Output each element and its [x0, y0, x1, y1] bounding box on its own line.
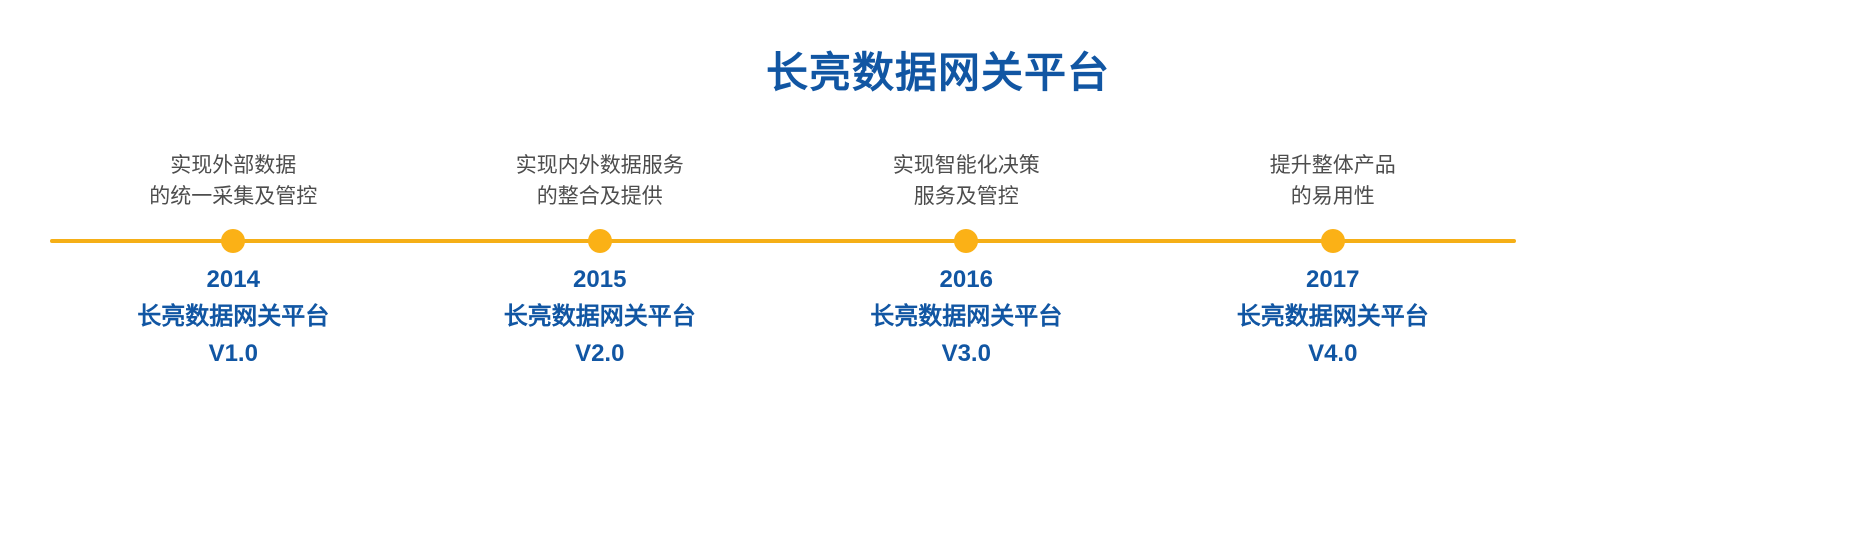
- milestone-2017: 提升整体产品 的易用性 2017 长亮数据网关平台 V4.0: [1150, 130, 1517, 430]
- timeline: 实现外部数据 的统一采集及管控 2014 长亮数据网关平台 V1.0 实现内外数…: [50, 130, 1516, 430]
- milestone-version: V4.0: [1150, 336, 1517, 372]
- milestone-year: 2016: [783, 262, 1150, 298]
- description-line-2: 的易用性: [1150, 181, 1517, 212]
- milestone-year: 2014: [50, 262, 417, 298]
- milestone-list: 实现外部数据 的统一采集及管控 2014 长亮数据网关平台 V1.0 实现内外数…: [50, 130, 1516, 430]
- description-line-2: 服务及管控: [783, 181, 1150, 212]
- milestone-label: 2017 长亮数据网关平台 V4.0: [1150, 262, 1517, 372]
- page-title: 长亮数据网关平台: [0, 46, 1876, 100]
- description-line-2: 的整合及提供: [417, 181, 784, 212]
- milestone-product-name: 长亮数据网关平台: [50, 298, 417, 336]
- milestone-description: 提升整体产品 的易用性: [1150, 150, 1517, 212]
- milestone-product-name: 长亮数据网关平台: [1150, 298, 1517, 336]
- milestone-year: 2015: [417, 262, 784, 298]
- milestone-dot-icon: [588, 229, 612, 253]
- milestone-description: 实现外部数据 的统一采集及管控: [50, 150, 417, 212]
- milestone-product-name: 长亮数据网关平台: [417, 298, 784, 336]
- milestone-description: 实现内外数据服务 的整合及提供: [417, 150, 784, 212]
- milestone-label: 2016 长亮数据网关平台 V3.0: [783, 262, 1150, 372]
- timeline-diagram: 长亮数据网关平台 实现外部数据 的统一采集及管控 2014 长亮数据网关平台 V…: [0, 0, 1876, 541]
- milestone-dot-icon: [221, 229, 245, 253]
- milestone-product-name: 长亮数据网关平台: [783, 298, 1150, 336]
- milestone-year: 2017: [1150, 262, 1517, 298]
- milestone-version: V1.0: [50, 336, 417, 372]
- milestone-2015: 实现内外数据服务 的整合及提供 2015 长亮数据网关平台 V2.0: [417, 130, 784, 430]
- description-line-1: 实现智能化决策: [783, 150, 1150, 181]
- milestone-description: 实现智能化决策 服务及管控: [783, 150, 1150, 212]
- description-line-2: 的统一采集及管控: [50, 181, 417, 212]
- description-line-1: 实现内外数据服务: [417, 150, 784, 181]
- milestone-version: V2.0: [417, 336, 784, 372]
- milestone-2016: 实现智能化决策 服务及管控 2016 长亮数据网关平台 V3.0: [783, 130, 1150, 430]
- milestone-label: 2015 长亮数据网关平台 V2.0: [417, 262, 784, 372]
- milestone-label: 2014 长亮数据网关平台 V1.0: [50, 262, 417, 372]
- milestone-2014: 实现外部数据 的统一采集及管控 2014 长亮数据网关平台 V1.0: [50, 130, 417, 430]
- description-line-1: 实现外部数据: [50, 150, 417, 181]
- milestone-dot-icon: [954, 229, 978, 253]
- milestone-version: V3.0: [783, 336, 1150, 372]
- description-line-1: 提升整体产品: [1150, 150, 1517, 181]
- milestone-dot-icon: [1321, 229, 1345, 253]
